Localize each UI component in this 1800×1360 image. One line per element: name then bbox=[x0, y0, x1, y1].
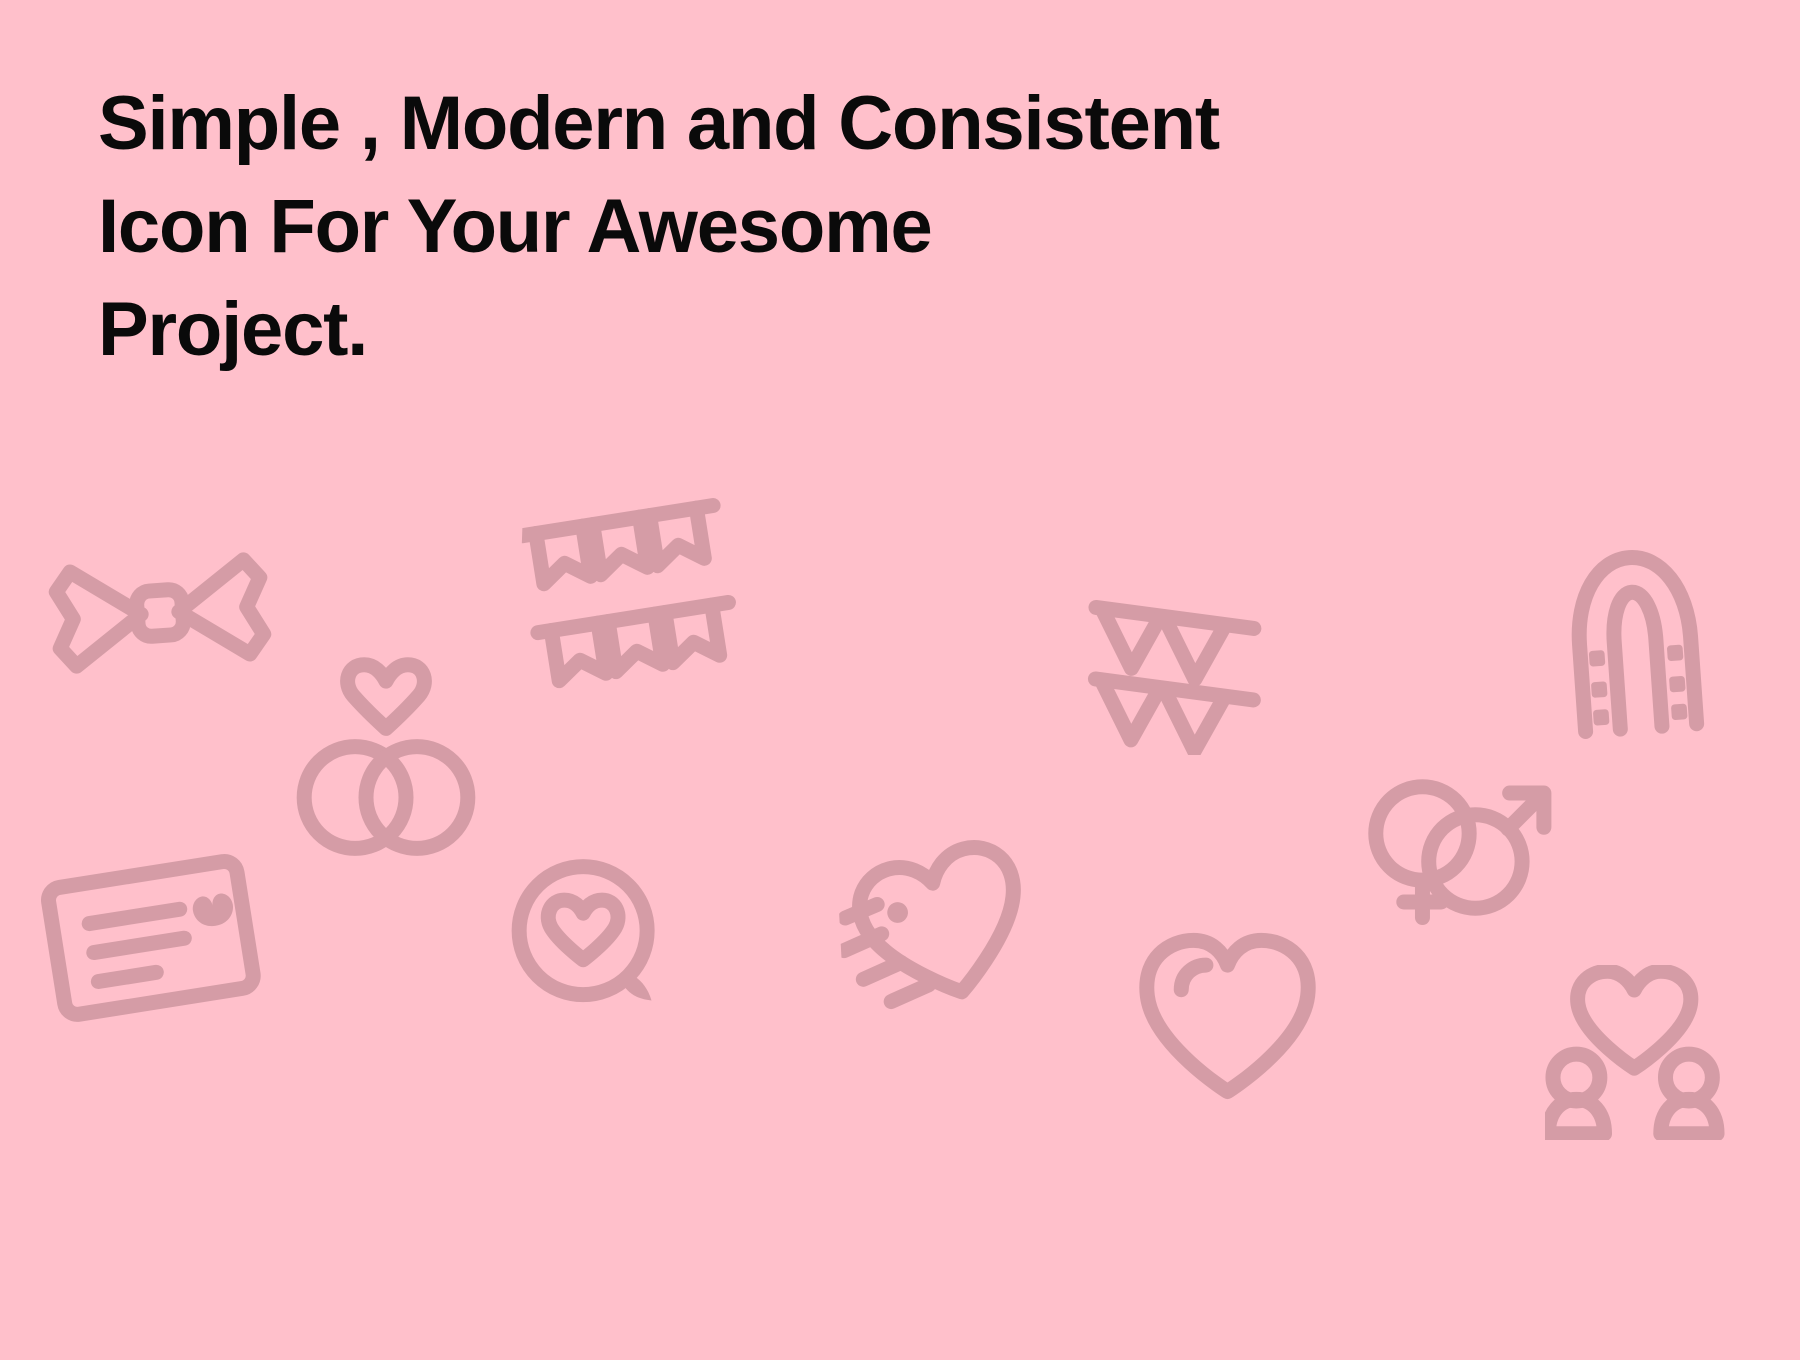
heart-shine-icon bbox=[1135, 930, 1320, 1105]
flying-heart-icon bbox=[836, 835, 1030, 1019]
chat-heart-icon bbox=[505, 855, 670, 1015]
envelope-letter-icon bbox=[27, 824, 273, 1041]
headline-line-3: Project. bbox=[98, 278, 1498, 381]
wedding-rings-icon bbox=[286, 655, 486, 860]
headline-line-1: Simple , Modern and Consistent bbox=[98, 72, 1498, 175]
gender-symbols-icon bbox=[1360, 765, 1555, 930]
headline-line-2: Icon For Your Awesome bbox=[98, 175, 1498, 278]
page-title: Simple , Modern and Consistent Icon For … bbox=[98, 72, 1498, 381]
horseshoe-icon bbox=[1523, 533, 1746, 747]
bunting-flags-icon bbox=[516, 491, 743, 704]
bow-tie-icon bbox=[40, 520, 279, 705]
hero-banner: Simple , Modern and Consistent Icon For … bbox=[0, 0, 1800, 1360]
pennant-flags-icon bbox=[1085, 575, 1270, 755]
couple-heart-icon bbox=[1545, 965, 1725, 1140]
